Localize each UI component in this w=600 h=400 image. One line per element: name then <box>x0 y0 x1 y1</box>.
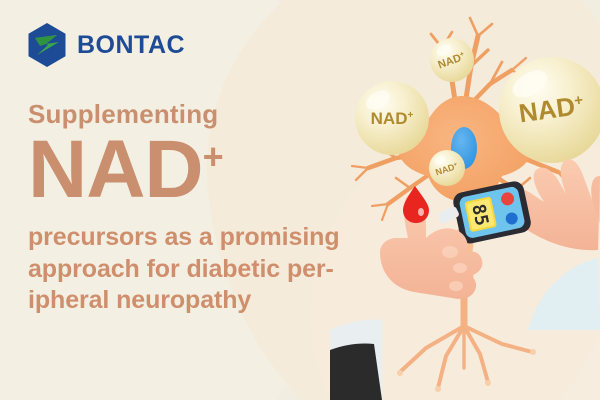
glucose-meter-reading: 85 <box>467 202 492 228</box>
nad-bubble-small-top: NAD+ <box>430 38 474 82</box>
illustration: NAD+ NAD+ NAD+ NAD+ <box>330 0 600 400</box>
headline-subline-2: approach for diabetic per- <box>28 254 368 285</box>
neuron-axon-terminals <box>397 326 536 392</box>
illustration-canvas: NAD+ NAD+ NAD+ NAD+ <box>330 0 600 400</box>
headline-subline-1: precursors as a promising <box>28 222 368 253</box>
brand-name: BONTAC <box>77 33 185 58</box>
nad-bubble-tiny-bottom: NAD+ <box>429 150 465 186</box>
nad-bubble-medium-label: NAD+ <box>371 109 414 128</box>
headline-hero-superscript: + <box>203 139 223 175</box>
hexagon-leaf-logo-icon <box>26 22 68 68</box>
nad-promo-banner: BONTAC Supplementing NAD+ precursors as … <box>0 0 600 400</box>
headline-block: Supplementing NAD+ precursors as a promi… <box>28 100 368 316</box>
headline-hero-text: NAD <box>28 131 203 209</box>
headline-subline-3: ipheral neuropathy <box>28 285 368 316</box>
jacket-sleeve <box>330 344 382 400</box>
headline-hero: NAD+ <box>28 131 368 209</box>
brand-logo[interactable]: BONTAC <box>26 22 185 68</box>
nad-bubble-medium: NAD+ <box>355 81 429 155</box>
headline-subline: precursors as a promising approach for d… <box>28 222 368 316</box>
